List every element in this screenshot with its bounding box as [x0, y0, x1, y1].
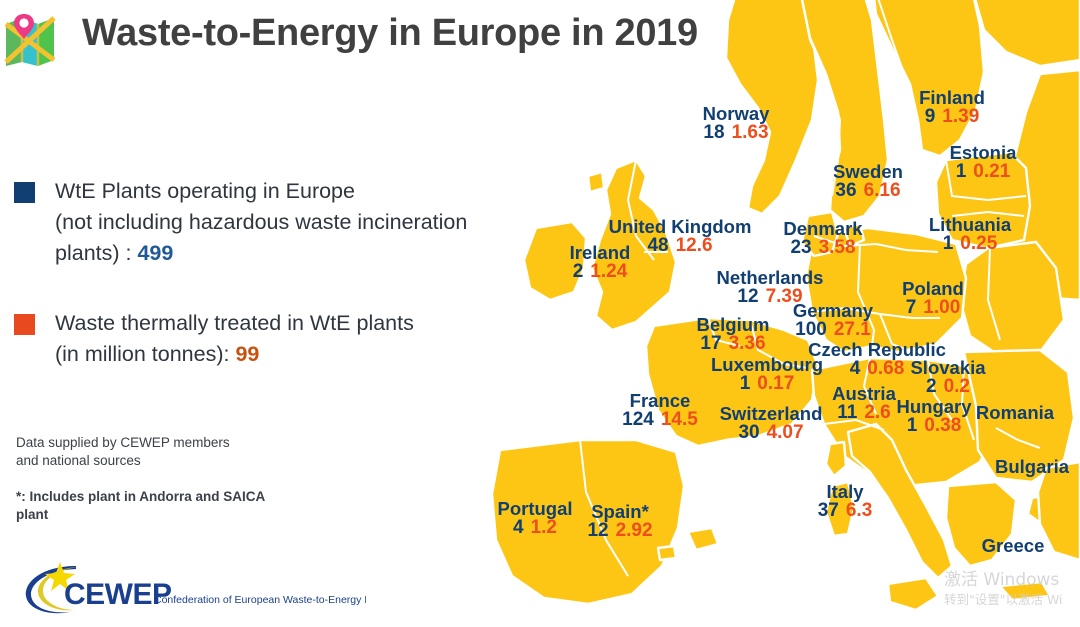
country-plant-count: 1 — [907, 415, 918, 436]
country-values: 10027.1 — [793, 320, 873, 340]
country-name: Portugal — [497, 499, 572, 518]
country-name: Norway — [703, 104, 770, 123]
country-plant-count: 4 — [513, 517, 524, 538]
country-name: Netherlands — [717, 268, 824, 287]
windows-activation-watermark: 激活 Windows 转到"设置"以激活 Wi — [944, 570, 1063, 610]
country-shape-finland — [872, 0, 984, 156]
country-name: Greece — [982, 536, 1045, 555]
country-shape-belarus-ukraine — [960, 242, 1064, 356]
country-values: 233.58 — [783, 238, 862, 258]
legend-waste-line2: (in million tonnes): — [55, 342, 235, 366]
country-plant-count: 100 — [795, 319, 827, 340]
country-tonnes: 12.6 — [676, 235, 713, 256]
country-tonnes: 3.36 — [729, 333, 766, 354]
asterisk-note-line2: plant — [16, 507, 48, 522]
country-values: 10.38 — [896, 416, 971, 436]
country-name: Ireland — [570, 243, 631, 262]
country-plant-count: 18 — [703, 122, 724, 143]
source-note-line1: Data supplied by CEWEP members — [16, 435, 230, 450]
country-plant-count: 2 — [573, 261, 584, 282]
navy-square-icon — [14, 182, 35, 203]
source-note: Data supplied by CEWEP members and natio… — [16, 434, 230, 470]
country-tonnes: 2.92 — [616, 520, 653, 541]
country-tonnes: 2.6 — [864, 402, 890, 423]
country-tonnes: 0.17 — [757, 373, 794, 394]
country-tonnes: 1.63 — [732, 122, 769, 143]
country-name: Finland — [919, 88, 985, 107]
country-values: 71.00 — [902, 298, 964, 318]
country-shape-northwest-russia — [970, 0, 1080, 66]
watermark-line2: 转到"设置"以激活 Wi — [944, 590, 1063, 610]
legend-plants-line1: WtE Plants operating in Europe — [55, 179, 355, 203]
map-label-spain: Spain*122.92 — [587, 502, 652, 541]
country-values: 21.24 — [570, 262, 631, 282]
country-values: 366.16 — [833, 181, 903, 201]
map-label-poland: Poland71.00 — [902, 279, 964, 318]
legend-waste-line1: Waste thermally treated in WtE plants — [55, 311, 414, 335]
legend-plants-text: WtE Plants operating in Europe (not incl… — [55, 176, 467, 269]
legend-plants-line2: (not including hazardous waste incinerat… — [55, 210, 467, 234]
country-name: Austria — [832, 384, 896, 403]
map-label-luxembourg: Luxembourg10.17 — [711, 355, 823, 394]
country-values: 304.07 — [720, 423, 823, 443]
country-name: Spain* — [587, 502, 652, 521]
country-shape-hebrides — [588, 172, 604, 192]
country-shape-corsica — [826, 442, 846, 476]
country-tonnes: 27.1 — [834, 319, 871, 340]
country-plant-count: 12 — [587, 520, 608, 541]
country-tonnes: 1.39 — [942, 106, 979, 127]
country-plant-count: 124 — [622, 409, 654, 430]
country-name: Luxembourg — [711, 355, 823, 374]
map-label-denmark: Denmark233.58 — [783, 219, 862, 258]
cewep-tagline: Confederation of European Waste-to-Energ… — [154, 594, 366, 606]
country-plant-count: 2 — [926, 376, 937, 397]
europe-map: Norway181.63Finland91.39Sweden366.16Esto… — [440, 0, 1080, 627]
legend-plants-value: 499 — [137, 241, 173, 265]
map-label-italy: Italy376.3 — [818, 482, 873, 521]
watermark-line1: 激活 Windows — [944, 570, 1063, 590]
map-icon — [4, 10, 56, 68]
country-tonnes: 6.3 — [846, 500, 872, 521]
country-shape-balearics — [688, 528, 718, 550]
country-name: Belgium — [697, 315, 770, 334]
country-values: 173.36 — [697, 334, 770, 354]
asterisk-note-line1: *: Includes plant in Andorra and SAICA — [16, 489, 265, 504]
orange-square-icon — [14, 314, 35, 335]
country-tonnes: 6.16 — [864, 180, 901, 201]
map-label-france: France12414.5 — [622, 391, 698, 430]
country-plant-count: 11 — [837, 402, 857, 423]
map-label-switzerland: Switzerland304.07 — [720, 404, 823, 443]
country-name: Germany — [793, 301, 873, 320]
country-tonnes: 0.38 — [924, 415, 961, 436]
map-label-belgium: Belgium173.36 — [697, 315, 770, 354]
country-name: France — [622, 391, 698, 410]
map-label-estonia: Estonia10.21 — [950, 143, 1017, 182]
country-plant-count: 7 — [906, 297, 917, 318]
map-label-austria: Austria112.6 — [832, 384, 896, 423]
country-tonnes: 0.68 — [867, 358, 904, 379]
country-values: 122.92 — [587, 521, 652, 541]
country-name: Bulgaria — [995, 457, 1069, 476]
source-note-line2: and national sources — [16, 453, 141, 468]
legend-item-waste: Waste thermally treated in WtE plants (i… — [14, 308, 414, 370]
country-shape-sicily — [888, 578, 938, 610]
country-plant-count: 36 — [835, 180, 856, 201]
country-name: Denmark — [783, 219, 862, 238]
country-tonnes: 1.24 — [590, 261, 627, 282]
country-tonnes: 4.07 — [767, 422, 804, 443]
country-plant-count: 1 — [943, 233, 954, 254]
country-values: 376.3 — [818, 501, 873, 521]
map-label-lithuania: Lithuania10.25 — [929, 215, 1011, 254]
country-values: 10.25 — [929, 234, 1011, 254]
country-tonnes: 14.5 — [661, 409, 698, 430]
map-label-hungary: Hungary10.38 — [896, 397, 971, 436]
country-name: Slovakia — [910, 358, 985, 377]
country-tonnes: 1.2 — [531, 517, 557, 538]
country-values: 41.2 — [497, 518, 572, 538]
infographic-page: Waste-to-Energy in Europe in 2019 WtE Pl… — [0, 0, 1080, 627]
country-name: Estonia — [950, 143, 1017, 162]
map-label-portugal: Portugal41.2 — [497, 499, 572, 538]
country-values: 112.6 — [832, 403, 896, 423]
map-label-bulgaria: Bulgaria — [995, 457, 1069, 476]
map-label-greece: Greece — [982, 536, 1045, 555]
country-name: Switzerland — [720, 404, 823, 423]
map-label-sweden: Sweden366.16 — [833, 162, 903, 201]
country-tonnes: 0.21 — [973, 161, 1010, 182]
map-label-finland: Finland91.39 — [919, 88, 985, 127]
map-label-romania: Romania — [976, 403, 1054, 422]
country-plant-count: 17 — [700, 333, 721, 354]
map-label-slovakia: Slovakia20.2 — [910, 358, 985, 397]
legend-item-plants: WtE Plants operating in Europe (not incl… — [14, 176, 467, 269]
country-plant-count: 48 — [647, 235, 668, 256]
asterisk-note: *: Includes plant in Andorra and SAICA p… — [16, 488, 265, 524]
country-values: 20.2 — [910, 377, 985, 397]
country-plant-count: 9 — [925, 106, 936, 127]
country-values: 91.39 — [919, 107, 985, 127]
map-label-norway: Norway181.63 — [703, 104, 770, 143]
country-plant-count: 1 — [740, 373, 751, 394]
map-label-ireland: Ireland21.24 — [570, 243, 631, 282]
country-plant-count: 23 — [790, 237, 811, 258]
map-label-germany: Germany10027.1 — [793, 301, 873, 340]
cewep-logo: CEWEP Confederation of European Waste-to… — [16, 558, 366, 620]
country-name: Lithuania — [929, 215, 1011, 234]
country-plant-count: 4 — [850, 358, 861, 379]
country-tonnes: 1.00 — [923, 297, 960, 318]
country-name: United Kingdom — [609, 217, 752, 236]
country-name: Hungary — [896, 397, 971, 416]
country-values: 10.17 — [711, 374, 823, 394]
country-name: Italy — [818, 482, 873, 501]
country-plant-count: 30 — [738, 422, 759, 443]
country-shape-ibiza — [658, 546, 676, 560]
country-plant-count: 1 — [956, 161, 967, 182]
legend-waste-value: 99 — [235, 342, 259, 366]
country-name: Sweden — [833, 162, 903, 181]
country-name: Poland — [902, 279, 964, 298]
legend-plants-line3: plants) : — [55, 241, 137, 265]
country-values: 10.21 — [950, 162, 1017, 182]
country-tonnes: 0.25 — [960, 233, 997, 254]
country-name: Romania — [976, 403, 1054, 422]
country-values: 181.63 — [703, 123, 770, 143]
country-plant-count: 12 — [737, 286, 758, 307]
country-values: 12414.5 — [622, 410, 698, 430]
country-tonnes: 0.2 — [944, 376, 970, 397]
country-plant-count: 37 — [818, 500, 839, 521]
country-tonnes: 3.58 — [819, 237, 856, 258]
legend-waste-text: Waste thermally treated in WtE plants (i… — [55, 308, 414, 370]
